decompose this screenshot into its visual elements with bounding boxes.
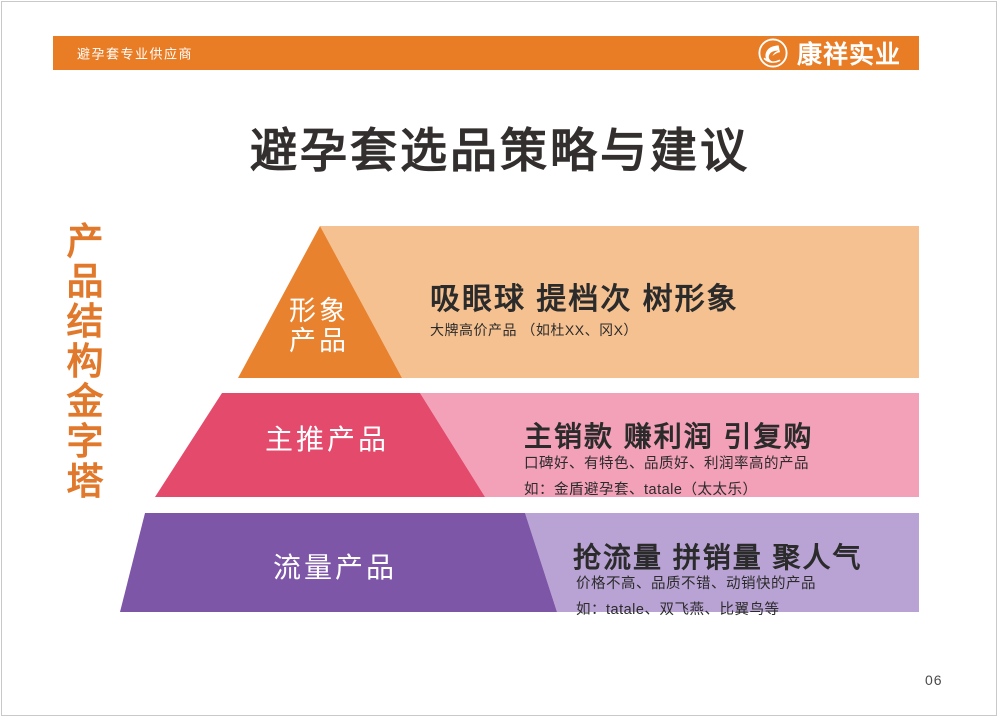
slide-canvas: 避孕套专业供应商 康祥实业 避孕套选品策略与建议 产 品 结 构 金 字 塔	[0, 0, 1000, 719]
tier1-subline: 大牌高价产品 （如杜XX、冈X）	[430, 320, 638, 340]
tier2-subline: 口碑好、有特色、品质好、利润率高的产品	[524, 452, 809, 473]
page-number: 06	[925, 672, 943, 688]
tier1-headline: 吸眼球 提档次 树形象	[430, 274, 739, 318]
tier3-label: 流量产品	[240, 552, 430, 583]
tier3-subline: 如：tatale、双飞燕、比翼鸟等	[576, 598, 779, 619]
pyramid-diagram	[0, 0, 1000, 719]
tier3-subline: 价格不高、品质不错、动销快的产品	[576, 572, 816, 593]
tier3-headline: 抢流量 拼销量 聚人气	[573, 536, 863, 576]
tier2-subline: 如：金盾避孕套、tatale（太太乐）	[524, 478, 757, 499]
tier2-label: 主推产品	[232, 424, 422, 455]
tier1-label: 形象 产品	[259, 296, 379, 356]
tier2-headline: 主销款 赚利润 引复购	[524, 415, 814, 455]
